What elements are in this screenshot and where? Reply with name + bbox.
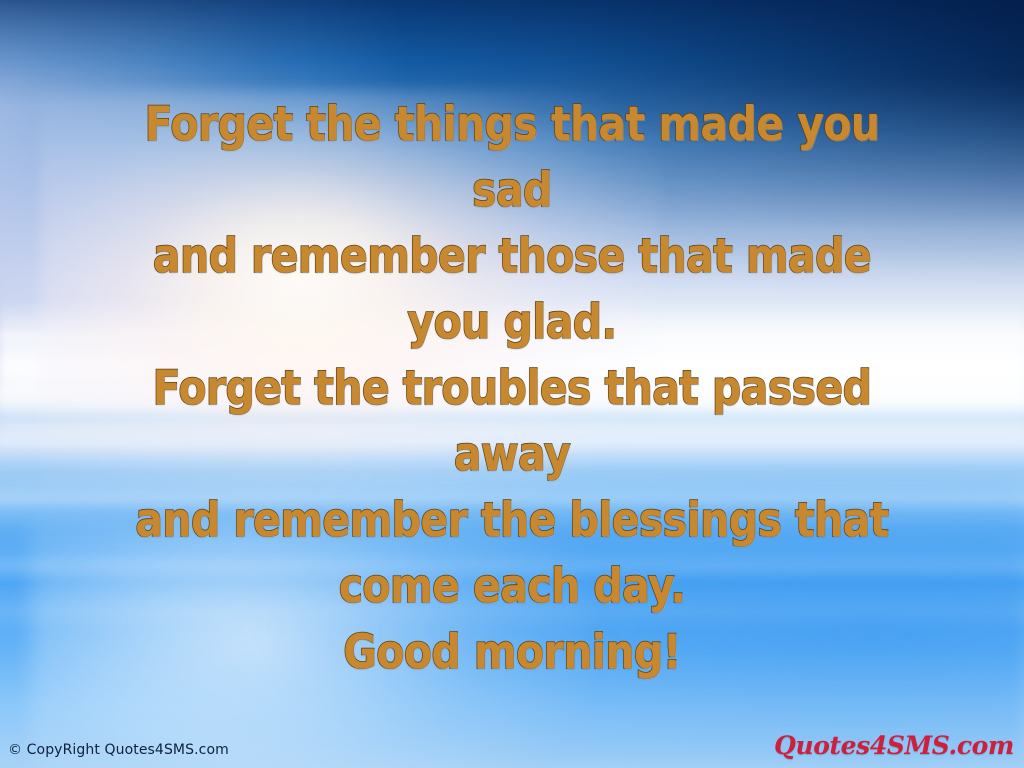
quote-text-block: Forget the things that made you sad and … xyxy=(0,92,1024,686)
quote-line: away xyxy=(91,422,933,488)
site-logo-watermark[interactable]: Quotes4SMS.com xyxy=(774,731,1014,760)
quote-line: and remember those that made xyxy=(91,224,933,290)
quote-line: sad xyxy=(91,158,933,224)
quote-line: you glad. xyxy=(91,290,933,356)
quote-line: Good morning! xyxy=(91,620,933,686)
quote-image-canvas: Forget the things that made you sad and … xyxy=(0,0,1024,768)
quote-line: and remember the blessings that xyxy=(91,488,933,554)
quote-line: Forget the things that made you xyxy=(91,92,933,158)
quote-line: Forget the troubles that passed xyxy=(91,356,933,422)
quote-line: come each day. xyxy=(91,554,933,620)
copyright-notice: © CopyRight Quotes4SMS.com xyxy=(8,742,229,758)
